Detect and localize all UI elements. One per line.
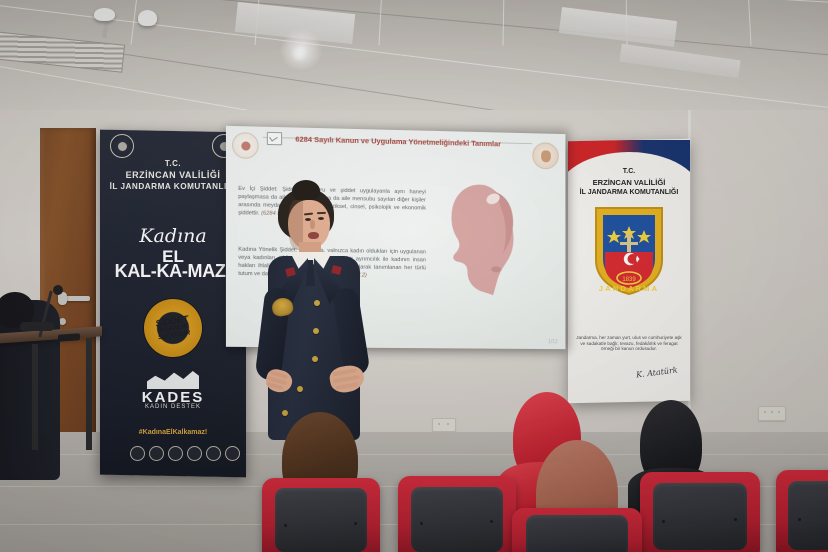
ceiling [0, 0, 828, 118]
banner-left-line2: İL JANDARMA KOMUTANLIĞI [100, 182, 246, 191]
auditorium-seat[interactable] [640, 472, 760, 552]
presenter-button [313, 328, 319, 334]
siddet-insanlik-sucudur-stamp: ŞİDDET İNSANLIK SUÇUDUR [140, 295, 206, 361]
banner-right-line2: İL JANDARMA KOMUTANLIĞI [568, 189, 690, 196]
wall-outlet [758, 406, 786, 421]
banner-jandarma: T.C. ERZİNCAN VALİLİĞİ İL JANDARMA KOMUT… [568, 139, 690, 404]
microphone-icon [53, 285, 63, 295]
auditorium-seat[interactable] [512, 508, 642, 552]
presenter-mouth [308, 232, 319, 239]
app-icon [225, 446, 240, 461]
banner-left-line1: ERZİNCAN VALİLİĞİ [100, 170, 246, 180]
door-handle[interactable] [64, 296, 90, 301]
facebook-icon [168, 446, 183, 461]
presenter-button [297, 386, 303, 392]
kades-logo-icon [147, 369, 199, 389]
banner-left-script-kadina: Kadına [100, 225, 246, 247]
presenter-eye [318, 217, 324, 220]
banner-left-tc: T.C. [100, 159, 246, 168]
banner-right-line1: ERZİNCAN VALİLİĞİ [568, 178, 690, 187]
banner-right-quote: Jandarma, her zaman yurt, ulus ve cumhur… [568, 335, 690, 352]
presenter-button [312, 356, 318, 362]
ataturk-signature: K. Atatürk [636, 365, 679, 379]
kades-sub-label: KADIN DESTEK [100, 404, 246, 410]
microphone-base [20, 322, 54, 331]
smoke-detector [138, 10, 157, 26]
presenter-nose [310, 220, 315, 229]
table-leg [86, 338, 92, 450]
government-seal-icon [110, 134, 134, 158]
web-icon [130, 446, 145, 461]
presenter-officer [252, 180, 378, 440]
woman-silhouette-icon [434, 181, 525, 300]
presenter-button [314, 300, 320, 306]
door-lock[interactable] [59, 318, 66, 325]
crest-year: 1839 [622, 277, 636, 283]
auditorium-seat[interactable] [776, 470, 828, 552]
slide-header: 6284 Sayılı Kanun ve Uygulama Yönetmeliğ… [234, 130, 558, 171]
crest-jandarma-text: JANDARMA [599, 284, 660, 293]
instagram-icon [187, 446, 202, 461]
presenter-button [282, 410, 288, 416]
wall-outlet [432, 418, 456, 432]
social-icons-row [130, 446, 240, 461]
hashtag-label: #KadınaElKalkamaz! [100, 429, 246, 436]
twitter-icon [149, 446, 164, 461]
auditorium-seat[interactable] [262, 478, 380, 552]
banner-kadina-el-kalkamaz: T.C. ERZİNCAN VALİLİĞİ İL JANDARMA KOMUT… [100, 130, 246, 478]
youtube-icon [206, 446, 221, 461]
banner-left-kalkamaz: KAL-KA-MAZ! [100, 261, 246, 282]
slide-page-number: 1/12 [548, 339, 557, 345]
table-leg [32, 344, 38, 450]
seminar-room-photo: T.C. ERZİNCAN VALİLİĞİ İL JANDARMA KOMUT… [0, 0, 828, 552]
jandarma-crest-icon: 1839 JANDARMA [592, 204, 666, 296]
presenter-hair-bun [292, 180, 320, 202]
banner-right-tc: T.C. [568, 168, 690, 175]
light-glare [290, 46, 308, 62]
slide-title: 6284 Sayılı Kanun ve Uygulama Yönetmeliğ… [269, 134, 527, 149]
smoke-detector [94, 8, 115, 21]
auditorium-seat[interactable] [398, 476, 516, 552]
